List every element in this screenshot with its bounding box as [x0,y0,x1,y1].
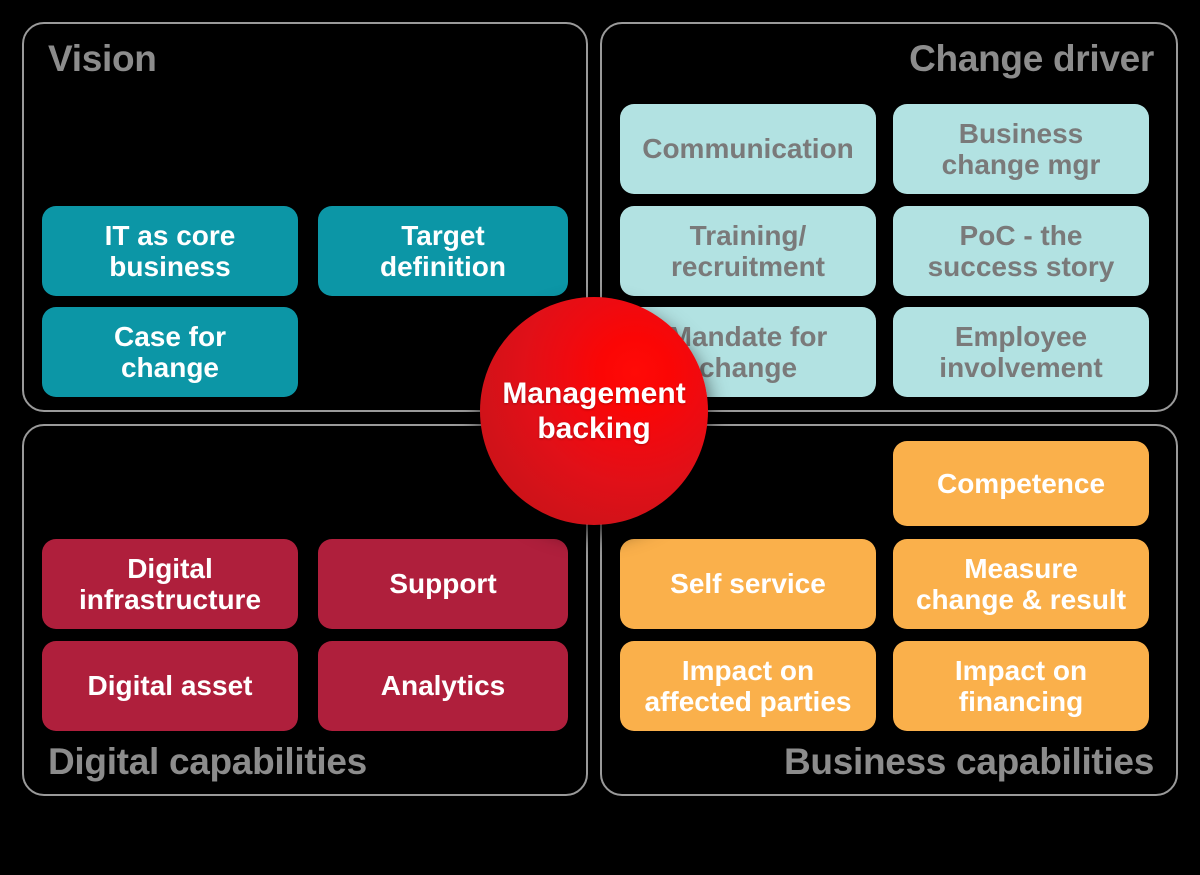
card-case-for-change[interactable]: Case for change [42,307,298,397]
card-it-as-core-business[interactable]: IT as core business [42,206,298,296]
card-digital-infrastructure[interactable]: Digital infrastructure [42,539,298,629]
card-poc-success-story[interactable]: PoC - the success story [893,206,1149,296]
card-support[interactable]: Support [318,539,568,629]
diagram-canvas: Vision IT as core business Target defini… [0,0,1200,875]
card-digital-asset[interactable]: Digital asset [42,641,298,731]
quadrant-title-vision: Vision [48,40,157,77]
quadrant-title-digital-capabilities: Digital capabilities [48,743,367,780]
card-impact-on-affected-parties[interactable]: Impact on affected parties [620,641,876,731]
card-measure-change-result[interactable]: Measure change & result [893,539,1149,629]
card-training-recruitment[interactable]: Training/ recruitment [620,206,876,296]
card-employee-involvement[interactable]: Employee involvement [893,307,1149,397]
card-target-definition[interactable]: Target definition [318,206,568,296]
card-competence[interactable]: Competence [893,441,1149,526]
card-business-change-mgr[interactable]: Business change mgr [893,104,1149,194]
card-analytics[interactable]: Analytics [318,641,568,731]
card-self-service[interactable]: Self service [620,539,876,629]
quadrant-title-change-driver: Change driver [909,40,1154,77]
card-impact-on-financing[interactable]: Impact on financing [893,641,1149,731]
card-communication[interactable]: Communication [620,104,876,194]
center-sphere-label: Management backing [502,376,685,447]
center-sphere-management-backing[interactable]: Management backing [480,297,708,525]
quadrant-title-business-capabilities: Business capabilities [784,743,1154,780]
